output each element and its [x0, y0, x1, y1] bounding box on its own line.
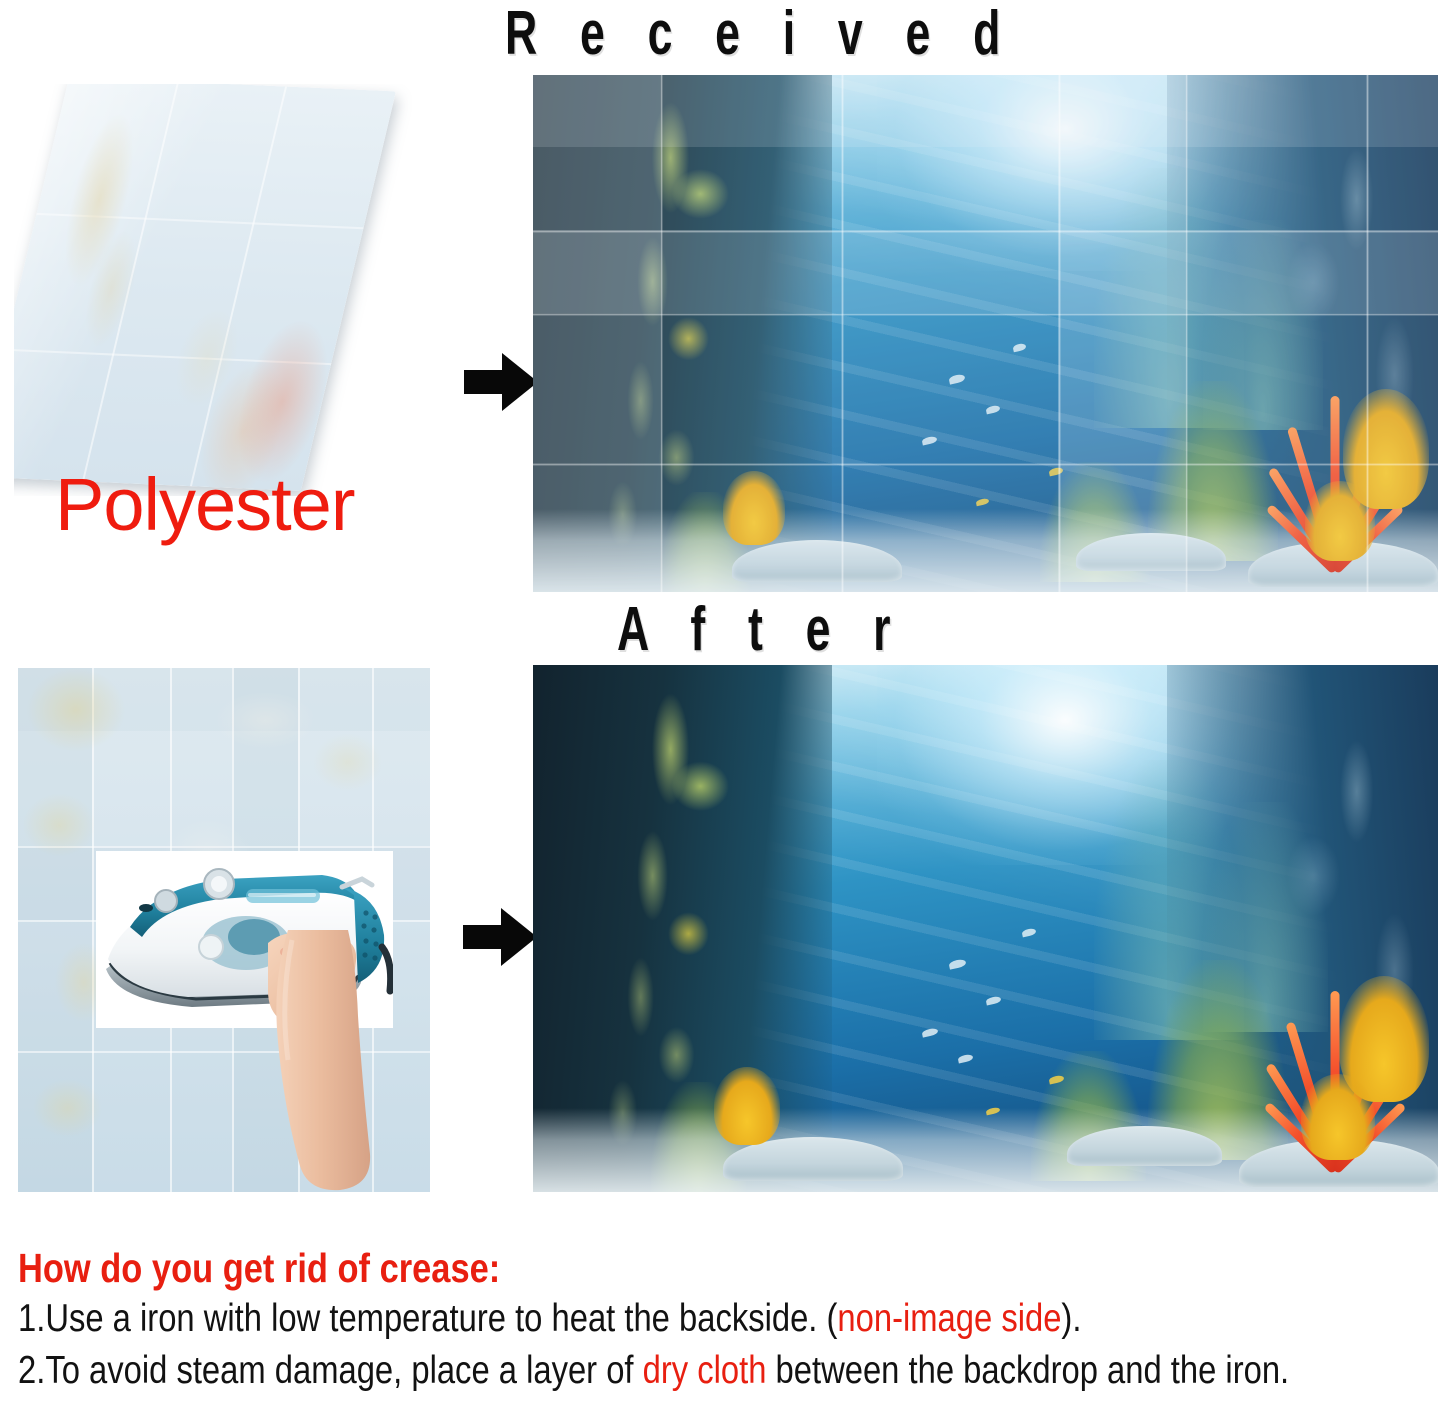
folded-backdrop-sheet: [14, 84, 396, 491]
right-arrow-icon: [464, 353, 538, 411]
section-title-received: R e c e i v e d: [505, 0, 1016, 69]
instruction-1-suffix: ).: [1061, 1297, 1081, 1340]
right-arrow-icon: [463, 908, 537, 966]
instruction-line-2: 2.To avoid steam damage, place a layer o…: [18, 1348, 1202, 1394]
instruction-2-suffix: between the backdrop and the iron.: [766, 1349, 1289, 1392]
folded-fabric-panel: [14, 84, 434, 496]
instructions-block: How do you get rid of crease: 1.Use a ir…: [18, 1247, 1428, 1394]
instruction-1-prefix: 1.Use a iron with low temperature to hea…: [18, 1297, 837, 1340]
yellow-fan-coral: [1305, 481, 1375, 561]
received-backdrop-panel: [533, 75, 1438, 592]
section-title-after: A f t e r: [617, 594, 906, 665]
instruction-line-1: 1.Use a iron with low temperature to hea…: [18, 1296, 1202, 1342]
instructions-heading: How do you get rid of crease:: [18, 1247, 1202, 1290]
instruction-2-prefix: 2.To avoid steam damage, place a layer o…: [18, 1349, 643, 1392]
yellow-fan-coral: [714, 1067, 780, 1145]
yellow-fan-coral: [1301, 1074, 1375, 1160]
after-backdrop-panel: [533, 665, 1438, 1192]
instruction-1-highlight: non-image side: [837, 1297, 1061, 1340]
infographic-page: R e c e i v e d Polyester: [0, 0, 1438, 1402]
instruction-2-highlight: dry cloth: [643, 1349, 767, 1392]
polyester-material-label: Polyester: [55, 462, 354, 547]
forearm: [236, 930, 386, 1192]
yellow-fan-coral: [723, 471, 785, 545]
